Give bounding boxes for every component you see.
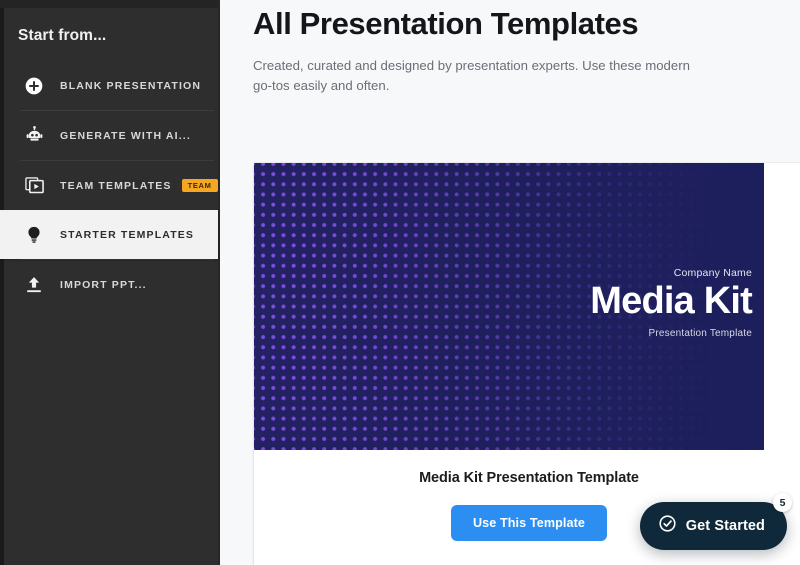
sidebar-nav: Blank Presentation xyxy=(0,61,220,309)
slide-subtitle: Presentation Template xyxy=(590,328,752,339)
template-preview-slide[interactable]: Company Name Media Kit Presentation Temp… xyxy=(254,163,764,450)
sidebar-item-generate-with-ai[interactable]: Generate with AI... xyxy=(0,111,220,160)
sidebar-item-blank-presentation[interactable]: Blank Presentation xyxy=(0,61,220,110)
get-started-button[interactable]: Get Started 5 xyxy=(640,502,787,550)
check-circle-icon xyxy=(658,514,677,538)
upload-icon xyxy=(22,273,46,297)
slide-heading: Media Kit xyxy=(590,281,752,322)
sidebar-item-label: Blank Presentation xyxy=(60,80,201,92)
sidebar-item-team-templates[interactable]: Team Templates TEAM xyxy=(0,161,220,210)
robot-icon xyxy=(22,124,46,148)
slide-company-name: Company Name xyxy=(590,267,752,279)
sidebar-item-label: Import PPT... xyxy=(60,279,147,291)
sidebar-item-label: Team Templates xyxy=(60,180,172,192)
get-started-label: Get Started xyxy=(686,518,765,534)
plus-circle-icon xyxy=(22,74,46,98)
main-content: All Presentation Templates Created, cura… xyxy=(220,0,800,565)
app-root: Start from... Blank Presentation xyxy=(0,0,800,565)
sidebar-title: Start from... xyxy=(0,8,220,45)
get-started-badge: 5 xyxy=(773,493,792,512)
sidebar-item-label: Starter Templates xyxy=(60,229,194,241)
use-this-template-button[interactable]: Use This Template xyxy=(451,505,607,541)
team-badge: TEAM xyxy=(182,179,218,192)
sidebar: Start from... Blank Presentation xyxy=(0,0,220,565)
template-card-title: Media Kit Presentation Template xyxy=(254,470,800,486)
sidebar-item-import-ppt[interactable]: Import PPT... xyxy=(0,260,220,309)
page-subtitle: Created, curated and designed by present… xyxy=(220,42,700,96)
sidebar-item-starter-templates[interactable]: Starter Templates xyxy=(0,210,218,259)
page-title: All Presentation Templates xyxy=(220,0,800,42)
sidebar-top-band xyxy=(0,0,220,8)
sidebar-item-label: Generate with AI... xyxy=(60,130,191,142)
lightbulb-icon xyxy=(22,223,46,247)
slides-play-icon xyxy=(22,174,46,198)
slide-text-block: Company Name Media Kit Presentation Temp… xyxy=(590,267,752,339)
